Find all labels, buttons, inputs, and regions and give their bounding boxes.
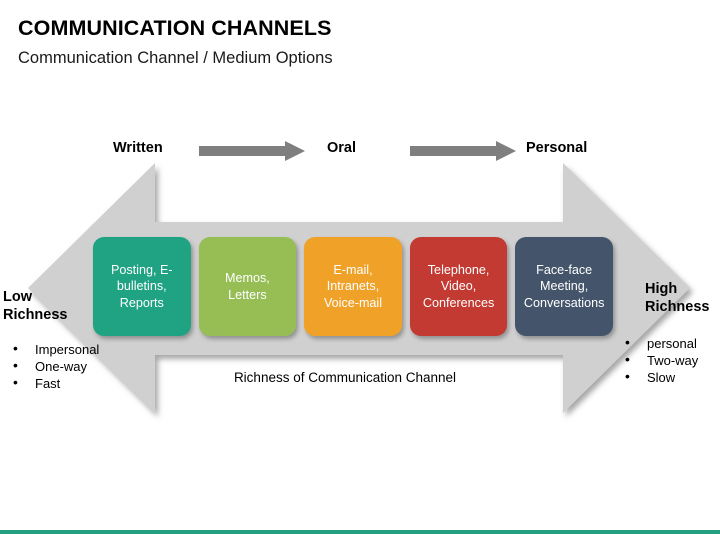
low-richness-heading: Low Richness bbox=[3, 288, 67, 324]
channel-box-telephone-video-conferences[interactable]: Telephone, Video, Conferences bbox=[410, 237, 508, 336]
channel-box-row: Posting, E- bulletins, Reports Memos, Le… bbox=[93, 237, 613, 336]
list-item: Impersonal bbox=[10, 341, 99, 358]
bottom-accent-bar bbox=[0, 530, 720, 534]
channel-box-label: E-mail, Intranets, Voice-mail bbox=[324, 262, 382, 312]
richness-caption: Richness of Communication Channel bbox=[0, 370, 690, 385]
high-richness-heading: High Richness bbox=[645, 280, 709, 316]
phase-arrow-oral-to-personal-icon bbox=[410, 141, 516, 161]
channel-box-memos-letters[interactable]: Memos, Letters bbox=[199, 237, 297, 336]
channel-box-email-intranets-voicemail[interactable]: E-mail, Intranets, Voice-mail bbox=[304, 237, 402, 336]
phase-arrow-written-to-oral-icon bbox=[199, 141, 305, 161]
list-item: Two-way bbox=[622, 352, 698, 369]
channel-box-label: Posting, E- bulletins, Reports bbox=[111, 262, 173, 312]
channel-box-label: Face-face Meeting, Conversations bbox=[524, 262, 605, 312]
channel-box-label: Telephone, Video, Conferences bbox=[423, 262, 494, 312]
phase-label-personal: Personal bbox=[526, 140, 587, 156]
channel-box-label: Memos, Letters bbox=[225, 270, 270, 303]
channel-box-posting-e-bulletins-reports[interactable]: Posting, E- bulletins, Reports bbox=[93, 237, 191, 336]
communication-richness-diagram: Written Oral Personal Posting, E- bullet… bbox=[0, 0, 720, 540]
phase-label-oral: Oral bbox=[327, 140, 356, 156]
list-item: personal bbox=[622, 335, 698, 352]
phase-label-written: Written bbox=[113, 140, 163, 156]
channel-box-face-face-meeting-conversations[interactable]: Face-face Meeting, Conversations bbox=[515, 237, 613, 336]
